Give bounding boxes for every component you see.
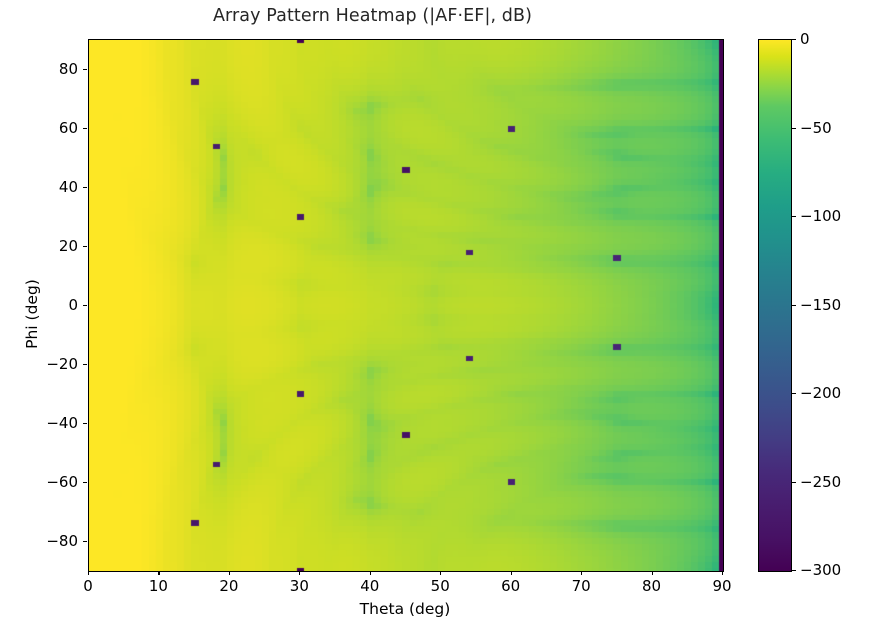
y-tick-mark [83,482,87,483]
colorbar-tick-mark [791,393,796,394]
x-tick-label: 70 [572,577,591,595]
colorbar-tick-label: −100 [800,207,841,225]
y-tick-label: 20 [59,237,78,255]
y-tick-label: 80 [59,60,78,78]
x-tick-mark [722,571,723,575]
y-tick-mark [83,423,87,424]
colorbar [758,39,792,572]
y-tick-label: −20 [46,355,78,373]
y-tick-mark [83,246,87,247]
heatmap-image [89,40,723,571]
y-tick-mark [83,69,87,70]
x-tick-label: 10 [149,577,168,595]
x-tick-mark [652,571,653,575]
colorbar-tick-label: 0 [800,30,810,48]
x-tick-mark [299,571,300,575]
x-tick-label: 30 [290,577,309,595]
x-tick-mark [158,571,159,575]
x-tick-label: 40 [360,577,379,595]
x-tick-label: 60 [501,577,520,595]
x-tick-label: 50 [431,577,450,595]
colorbar-tick-mark [791,128,796,129]
colorbar-tick-label: −150 [800,296,841,314]
colorbar-tick-mark [791,482,796,483]
colorbar-tick-label: −50 [800,119,832,137]
colorbar-tick-mark [791,216,796,217]
heatmap-axes [88,39,724,572]
y-tick-mark [83,305,87,306]
y-axis-label: Phi (deg) [23,204,41,424]
x-tick-mark [581,571,582,575]
y-tick-mark [83,541,87,542]
y-tick-label: −40 [46,414,78,432]
x-tick-label: 20 [219,577,238,595]
y-tick-mark [83,187,87,188]
colorbar-tick-mark [791,39,796,40]
x-tick-mark [511,571,512,575]
figure-canvas: Array Pattern Heatmap (|AF·EF|, dB) 0102… [0,0,885,637]
x-axis-label: Theta (deg) [88,600,722,618]
x-tick-mark [88,571,89,575]
y-tick-mark [83,128,87,129]
y-tick-label: 40 [59,178,78,196]
y-tick-label: −60 [46,473,78,491]
colorbar-tick-label: −300 [800,561,841,579]
x-tick-label: 90 [712,577,731,595]
colorbar-tick-label: −200 [800,384,841,402]
x-tick-mark [370,571,371,575]
x-tick-label: 0 [83,577,93,595]
colorbar-tick-mark [791,570,796,571]
chart-title: Array Pattern Heatmap (|AF·EF|, dB) [0,6,745,26]
y-tick-mark [83,364,87,365]
y-tick-label: 0 [68,296,78,314]
colorbar-tick-label: −250 [800,473,841,491]
y-tick-label: 60 [59,119,78,137]
colorbar-tick-mark [791,305,796,306]
x-tick-mark [229,571,230,575]
x-tick-mark [440,571,441,575]
y-tick-label: −80 [46,532,78,550]
x-tick-label: 80 [642,577,661,595]
